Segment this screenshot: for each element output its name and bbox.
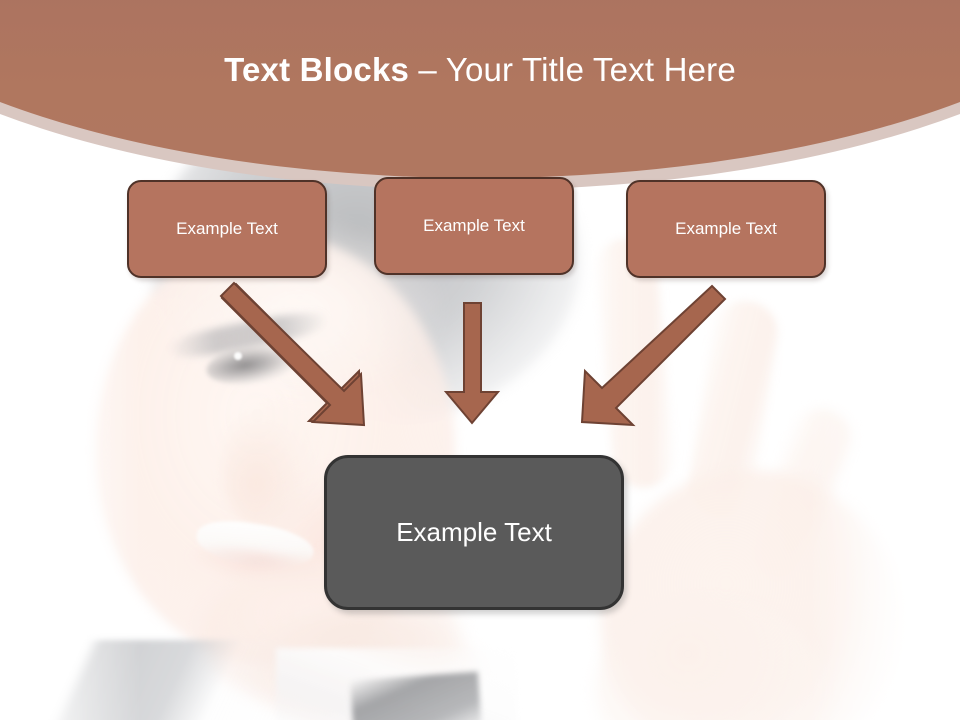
bottom-text-box[interactable]: Example Text — [324, 455, 624, 610]
background-photo — [0, 0, 960, 720]
top-text-box-1[interactable]: Example Text — [127, 180, 327, 278]
top-text-box-1-label: Example Text — [176, 219, 278, 239]
bottom-text-box-label: Example Text — [396, 517, 552, 548]
top-text-box-2-label: Example Text — [423, 216, 525, 236]
top-text-box-3[interactable]: Example Text — [626, 180, 826, 278]
page-title-light: Your Title Text Here — [446, 51, 736, 88]
page-title-strong: Text Blocks — [224, 51, 409, 88]
photo-wash-overlay — [0, 0, 960, 720]
top-text-box-2[interactable]: Example Text — [374, 177, 574, 275]
top-text-box-3-label: Example Text — [675, 219, 777, 239]
page-title: Text Blocks – Your Title Text Here — [0, 50, 960, 90]
presentation-slide: Text Blocks – Your Title Text Here Examp… — [0, 0, 960, 720]
page-title-separator: – — [409, 51, 446, 88]
